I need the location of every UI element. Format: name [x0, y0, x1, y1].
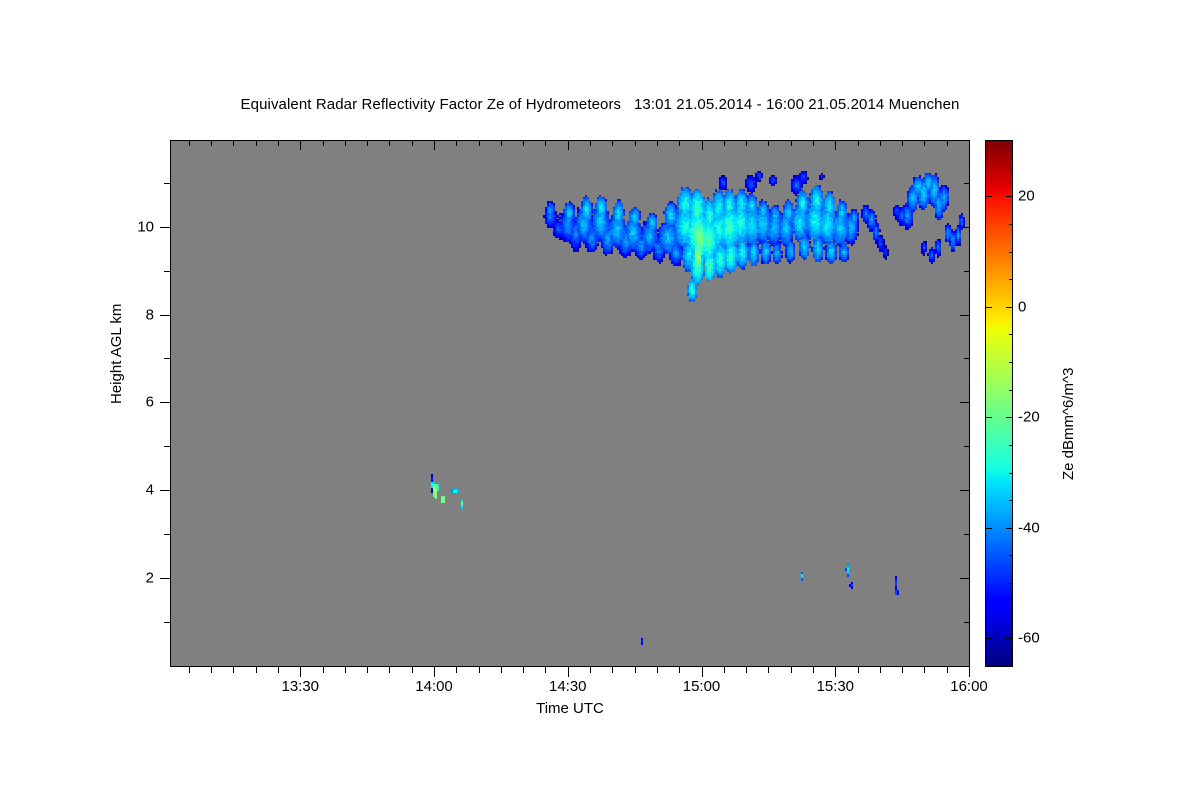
- x-minor-tick: [746, 667, 747, 673]
- y-tick-label: 4: [146, 482, 154, 499]
- x-tick-mark: [434, 667, 435, 677]
- colorbar[interactable]: [985, 140, 1013, 667]
- x-minor-tick-top: [679, 140, 680, 146]
- y-minor-tick-right: [964, 622, 970, 623]
- x-minor-tick: [657, 667, 658, 673]
- x-minor-tick-top: [323, 140, 324, 146]
- colorbar-tick-mark: [1006, 528, 1013, 529]
- y-tick-mark-right: [960, 578, 970, 579]
- x-tick-label: 16:00: [950, 678, 988, 695]
- colorbar-minor-tick: [1009, 279, 1013, 280]
- x-minor-tick-top: [189, 140, 190, 146]
- colorbar-minor-tick: [1009, 224, 1013, 225]
- y-minor-tick: [164, 271, 170, 272]
- colorbar-gradient: [986, 141, 1012, 666]
- y-minor-tick: [164, 622, 170, 623]
- x-minor-tick: [768, 667, 769, 673]
- x-minor-tick-top: [479, 140, 480, 146]
- x-minor-tick: [323, 667, 324, 673]
- x-tick-mark-top: [568, 140, 569, 150]
- x-tick-mark: [568, 667, 569, 677]
- x-tick-mark-top: [300, 140, 301, 150]
- x-minor-tick: [902, 667, 903, 673]
- x-minor-tick: [545, 667, 546, 673]
- x-minor-tick-top: [724, 140, 725, 146]
- x-tick-label: 15:00: [683, 678, 721, 695]
- colorbar-tick-mark-left: [985, 196, 992, 197]
- y-minor-tick-right: [964, 183, 970, 184]
- x-tick-mark-top: [434, 140, 435, 150]
- x-minor-tick-top: [635, 140, 636, 146]
- x-minor-tick: [635, 667, 636, 673]
- y-minor-tick-right: [964, 534, 970, 535]
- x-minor-tick: [233, 667, 234, 673]
- x-minor-tick-top: [813, 140, 814, 146]
- x-minor-tick-top: [545, 140, 546, 146]
- x-minor-tick-top: [746, 140, 747, 146]
- x-tick-mark: [702, 667, 703, 677]
- x-minor-tick-top: [657, 140, 658, 146]
- radar-reflectivity-heatmap: [171, 141, 969, 666]
- x-tick-mark-top: [702, 140, 703, 150]
- x-tick-label: 14:30: [549, 678, 587, 695]
- x-minor-tick: [211, 667, 212, 673]
- x-minor-tick-top: [880, 140, 881, 146]
- y-tick-label: 10: [137, 218, 154, 235]
- x-minor-tick-top: [367, 140, 368, 146]
- colorbar-tick-label: -20: [1018, 409, 1040, 426]
- x-minor-tick: [479, 667, 480, 673]
- x-axis-label: Time UTC: [170, 700, 970, 717]
- x-minor-tick: [501, 667, 502, 673]
- colorbar-minor-tick: [1009, 500, 1013, 501]
- colorbar-tick-mark-left: [985, 528, 992, 529]
- x-minor-tick-top: [791, 140, 792, 146]
- colorbar-minor-tick: [1009, 583, 1013, 584]
- x-minor-tick: [345, 667, 346, 673]
- colorbar-minor-tick: [1009, 169, 1013, 170]
- x-minor-tick: [412, 667, 413, 673]
- colorbar-minor-tick: [1009, 445, 1013, 446]
- x-minor-tick-top: [590, 140, 591, 146]
- x-minor-tick-top: [233, 140, 234, 146]
- y-tick-label: 8: [146, 306, 154, 323]
- page-title: Equivalent Radar Reflectivity Factor Ze …: [0, 96, 1200, 113]
- x-minor-tick-top: [612, 140, 613, 146]
- colorbar-tick-mark: [1006, 196, 1013, 197]
- colorbar-label: Ze dBmm^6/m^3: [1060, 368, 1077, 480]
- x-minor-tick: [880, 667, 881, 673]
- y-tick-mark-right: [960, 490, 970, 491]
- x-minor-tick: [858, 667, 859, 673]
- y-tick-label: 6: [146, 394, 154, 411]
- x-minor-tick-top: [501, 140, 502, 146]
- x-tick-mark-top: [969, 140, 970, 150]
- x-tick-mark-top: [835, 140, 836, 150]
- colorbar-tick-label: 0: [1018, 298, 1026, 315]
- x-minor-tick: [947, 667, 948, 673]
- y-tick-label: 2: [146, 570, 154, 587]
- y-minor-tick: [164, 183, 170, 184]
- colorbar-minor-tick: [1009, 362, 1013, 363]
- x-minor-tick-top: [947, 140, 948, 146]
- x-minor-tick-top: [523, 140, 524, 146]
- x-tick-mark: [300, 667, 301, 677]
- colorbar-minor-tick: [1009, 611, 1013, 612]
- colorbar-minor-tick: [1009, 252, 1013, 253]
- x-minor-tick-top: [456, 140, 457, 146]
- x-minor-tick-top: [902, 140, 903, 146]
- x-minor-tick: [924, 667, 925, 673]
- x-minor-tick-top: [924, 140, 925, 146]
- colorbar-tick-mark: [1006, 638, 1013, 639]
- colorbar-minor-tick: [1009, 334, 1013, 335]
- colorbar-tick-label: 20: [1018, 188, 1035, 205]
- y-tick-mark-right: [960, 315, 970, 316]
- y-tick-mark: [160, 578, 170, 579]
- x-minor-tick-top: [858, 140, 859, 146]
- colorbar-minor-tick: [1009, 390, 1013, 391]
- plot-area[interactable]: [170, 140, 970, 667]
- x-minor-tick: [456, 667, 457, 673]
- x-minor-tick-top: [278, 140, 279, 146]
- x-minor-tick: [367, 667, 368, 673]
- x-minor-tick-top: [412, 140, 413, 146]
- x-minor-tick: [523, 667, 524, 673]
- x-minor-tick: [791, 667, 792, 673]
- x-minor-tick: [278, 667, 279, 673]
- y-minor-tick-right: [964, 446, 970, 447]
- x-minor-tick-top: [256, 140, 257, 146]
- x-minor-tick-top: [768, 140, 769, 146]
- colorbar-tick-label: -60: [1018, 630, 1040, 647]
- colorbar-minor-tick: [1009, 555, 1013, 556]
- x-minor-tick-top: [389, 140, 390, 146]
- y-minor-tick-right: [964, 271, 970, 272]
- y-tick-mark-right: [960, 402, 970, 403]
- x-minor-tick: [590, 667, 591, 673]
- x-minor-tick: [389, 667, 390, 673]
- y-minor-tick: [164, 534, 170, 535]
- y-tick-mark-right: [960, 227, 970, 228]
- x-minor-tick-top: [345, 140, 346, 146]
- x-tick-mark: [969, 667, 970, 677]
- y-axis-label: Height AGL km: [108, 304, 125, 404]
- y-tick-mark: [160, 490, 170, 491]
- y-minor-tick-right: [964, 358, 970, 359]
- x-minor-tick: [724, 667, 725, 673]
- colorbar-tick-mark: [1006, 417, 1013, 418]
- x-minor-tick: [813, 667, 814, 673]
- y-tick-mark: [160, 402, 170, 403]
- x-tick-label: 15:30: [816, 678, 854, 695]
- x-minor-tick: [256, 667, 257, 673]
- colorbar-tick-label: -40: [1018, 519, 1040, 536]
- radar-reflectivity-figure: Equivalent Radar Reflectivity Factor Ze …: [0, 0, 1200, 800]
- x-minor-tick: [612, 667, 613, 673]
- x-minor-tick: [189, 667, 190, 673]
- y-minor-tick: [164, 446, 170, 447]
- y-minor-tick: [164, 358, 170, 359]
- x-minor-tick: [679, 667, 680, 673]
- colorbar-tick-mark-left: [985, 638, 992, 639]
- x-minor-tick-top: [211, 140, 212, 146]
- colorbar-tick-mark: [1006, 307, 1013, 308]
- y-tick-mark: [160, 315, 170, 316]
- colorbar-tick-mark-left: [985, 307, 992, 308]
- y-tick-mark: [160, 227, 170, 228]
- colorbar-minor-tick: [1009, 473, 1013, 474]
- x-tick-label: 13:30: [281, 678, 319, 695]
- x-tick-label: 14:00: [415, 678, 453, 695]
- colorbar-tick-mark-left: [985, 417, 992, 418]
- x-tick-mark: [835, 667, 836, 677]
